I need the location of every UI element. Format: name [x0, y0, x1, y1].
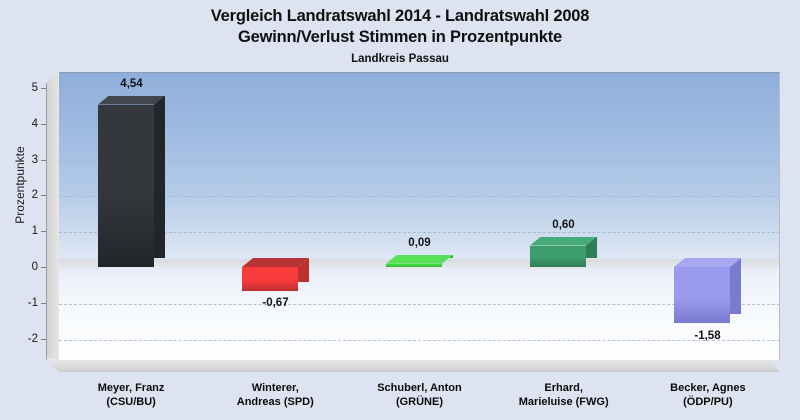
category-label-line: (CSU/BU) — [59, 395, 203, 409]
y-tick-mark — [41, 88, 46, 89]
category-label-line: Erhard, — [492, 381, 636, 395]
plot-floor — [46, 358, 780, 372]
bar-face — [530, 246, 586, 267]
y-tick-mark — [41, 339, 46, 340]
y-tick-label: 0 — [14, 261, 38, 273]
category-label-line: (GRÜNE) — [347, 395, 491, 409]
y-tick-mark — [41, 160, 46, 161]
category-label-line: Becker, Agnes — [636, 381, 780, 395]
bar-2[interactable] — [242, 267, 298, 291]
y-tick-mark — [41, 267, 46, 268]
category-label-3: Schuberl, Anton(GRÜNE) — [347, 381, 491, 409]
y-tick-mark — [41, 303, 46, 304]
category-label-line: (ÖDP/PU) — [636, 395, 780, 409]
y-axis-title: Prozentpunkte — [13, 115, 27, 255]
bar-face — [386, 264, 442, 267]
category-label-line: Andreas (SPD) — [203, 395, 347, 409]
bar-top — [386, 255, 453, 264]
category-label-line: Marieluise (FWG) — [492, 395, 636, 409]
bar-top — [98, 96, 165, 105]
chart-title-line-2: Gewinn/Verlust Stimmen in Prozentpunkte — [0, 27, 800, 48]
bar-side — [154, 96, 165, 258]
bar-face — [242, 267, 298, 291]
y-tick-mark — [41, 195, 46, 196]
gridline — [59, 232, 780, 233]
category-label-2: Winterer,Andreas (SPD) — [203, 381, 347, 409]
bar-value-label-3: 0,09 — [366, 237, 473, 249]
y-tick-mark — [41, 124, 46, 125]
bar-value-label-4: 0,60 — [510, 219, 617, 231]
y-tick-label: -1 — [14, 297, 38, 309]
category-label-line: Schuberl, Anton — [347, 381, 491, 395]
chart-root: Vergleich Landratswahl 2014 - Landratswa… — [0, 0, 800, 420]
gridline — [59, 125, 780, 126]
category-label-1: Meyer, Franz(CSU/BU) — [59, 381, 203, 409]
y-tick-label: -2 — [14, 333, 38, 345]
plot-area — [59, 72, 780, 360]
bar-4[interactable] — [530, 246, 586, 267]
bar-top — [530, 237, 597, 246]
category-label-line: Winterer, — [203, 381, 347, 395]
y-tick-mark — [41, 231, 46, 232]
chart-subtitle: Landkreis Passau — [0, 52, 800, 67]
bar-1[interactable] — [98, 105, 154, 267]
chart-title-line-1: Vergleich Landratswahl 2014 - Landratswa… — [0, 6, 800, 27]
gridline — [59, 304, 780, 305]
bar-top — [242, 258, 309, 267]
category-label-4: Erhard,Marieluise (FWG) — [492, 381, 636, 409]
bar-face — [98, 105, 154, 267]
category-label-line: Meyer, Franz — [59, 381, 203, 395]
bar-top — [674, 258, 741, 267]
bar-value-label-2: -0,67 — [222, 297, 329, 309]
chart-titles: Vergleich Landratswahl 2014 - Landratswa… — [0, 6, 800, 67]
y-tick-label: 5 — [14, 82, 38, 94]
bar-side — [730, 258, 741, 315]
gridline — [59, 161, 780, 162]
bar-3[interactable] — [386, 264, 442, 267]
bar-value-label-1: 4,54 — [78, 78, 185, 90]
bar-5[interactable] — [674, 267, 730, 324]
category-label-5: Becker, Agnes(ÖDP/PU) — [636, 381, 780, 409]
bar-face — [674, 267, 730, 324]
plot-left-wall — [46, 72, 59, 360]
gridline — [59, 196, 780, 197]
bar-value-label-5: -1,58 — [654, 330, 761, 342]
